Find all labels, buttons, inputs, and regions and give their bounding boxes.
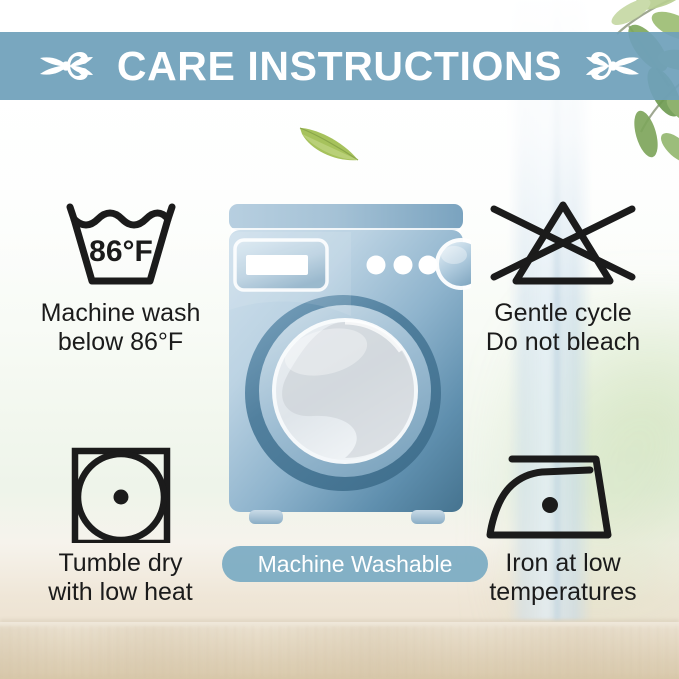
header-banner: CARE INSTRUCTIONS [0,32,679,100]
page-title: CARE INSTRUCTIONS [117,46,562,87]
caption-line-2: Do not bleach [450,328,676,357]
washing-machine-illustration [221,200,471,540]
fleur-de-lis-icon-left [39,45,95,87]
control-indicator-dot [367,256,386,275]
machine-washable-badge: Machine Washable [222,546,488,582]
caption-line-1: Tumble dry [8,549,233,578]
care-instructions-infographic: CARE INSTRUCTIONS 86°F [0,0,679,679]
iron-one-dot-icon [450,443,676,543]
care-symbol-do-not-bleach: Gentle cycle Do not bleach [450,193,676,356]
caption-line-1: Gentle cycle [450,299,676,328]
triangle-crossed-out-icon [450,193,676,291]
care-symbol-caption: Tumble dry with low heat [8,549,233,606]
badge-label: Machine Washable [258,553,453,576]
floating-leaf-icon [296,118,364,168]
washer-foot [249,510,283,524]
caption-line-2: temperatures [450,578,676,607]
wood-grain-texture [0,626,679,678]
care-symbol-caption: Gentle cycle Do not bleach [450,299,676,356]
fleur-de-lis-icon-right [584,45,640,87]
caption-line-2: below 86°F [8,328,233,357]
wash-tub-icon: 86°F [8,193,233,291]
control-indicator-dot [394,256,413,275]
care-symbol-caption: Machine wash below 86°F [8,299,233,356]
washer-foot [411,510,445,524]
care-symbol-iron: Iron at low temperatures [450,443,676,606]
tumble-dry-square-icon [8,443,233,543]
care-symbol-tumble-dry: Tumble dry with low heat [8,443,233,606]
care-symbol-machine-wash: 86°F Machine wash below 86°F [8,193,233,356]
control-indicator-dot [419,256,438,275]
wash-temperature-value: 86°F [89,235,153,268]
caption-line-2: with low heat [8,578,233,607]
caption-line-1: Machine wash [8,299,233,328]
